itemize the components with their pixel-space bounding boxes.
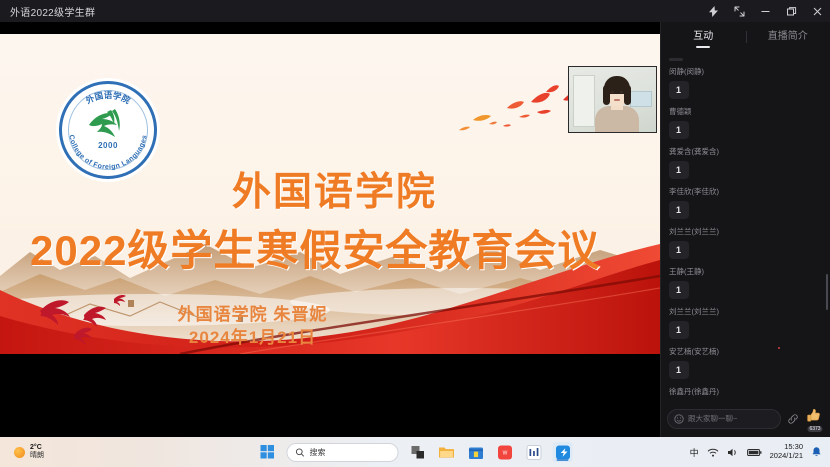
live-sidebar: 互动 直播简介 闵静(闵静) 1 曹德颖 1 龚爱含(龚爱含) 1 李佳欣(李佳… <box>660 22 830 437</box>
slide-title-line1: 外国语学院 <box>232 161 437 217</box>
message-text: 1 <box>669 321 689 339</box>
system-tray: 中 15:30 2024/1/21 <box>690 443 822 460</box>
message-sender: 李佳欣(李佳欣) <box>669 186 830 197</box>
bell-icon[interactable] <box>811 446 822 458</box>
list-item: 刘兰兰(刘兰兰) 1 <box>669 306 830 339</box>
logo-year-label: 2000 <box>56 141 160 150</box>
svg-text:W: W <box>502 450 507 456</box>
thumbs-up-icon[interactable] <box>805 407 823 425</box>
message-sender: 安艺楠(安艺楠) <box>669 346 830 357</box>
search-icon <box>296 448 305 457</box>
weather-widget[interactable]: 2°C 晴朗 <box>0 444 160 460</box>
presentation-slide: 外国语学院 College of Foreign Languages 2000 … <box>0 34 660 354</box>
battery-icon[interactable] <box>747 447 762 458</box>
window-titlebar: 外语2022级学生群 <box>0 0 830 22</box>
message-text: 1 <box>669 281 689 299</box>
chat-composer: 跟大家聊一聊~ 6373 <box>661 400 830 437</box>
message-sender: 闵静(闵静) <box>669 66 830 77</box>
smiley-icon[interactable] <box>674 414 684 424</box>
message-text: 1 <box>669 121 689 139</box>
chat-scrollbar[interactable] <box>826 274 828 310</box>
dingtalk-icon[interactable] <box>553 442 573 462</box>
list-item: 闵静(闵静) 1 <box>669 66 830 99</box>
wifi-icon[interactable] <box>707 447 719 458</box>
chat-input-placeholder: 跟大家聊一聊~ <box>688 413 737 424</box>
message-sender: 刘兰兰(刘兰兰) <box>669 306 830 317</box>
window-controls <box>700 0 830 22</box>
slide-date: 2024年1月21日 <box>0 323 660 348</box>
wps-office-icon[interactable]: W <box>495 442 515 462</box>
search-input[interactable]: 搜索 <box>287 443 399 462</box>
message-sender: 龚爱含(龚爱含) <box>669 146 830 157</box>
list-item: 曹德颖 1 <box>669 106 830 139</box>
microsoft-store-icon[interactable] <box>466 442 486 462</box>
like-count-badge: 6373 <box>807 426 822 432</box>
weather-temperature: 2°C <box>30 444 44 452</box>
list-item: 安艺楠(安艺楠) 1 <box>669 346 830 379</box>
presenter-webcam-video[interactable] <box>568 66 657 133</box>
college-logo: 外国语学院 College of Foreign Languages 2000 <box>56 78 160 182</box>
shrink-window-icon[interactable] <box>726 0 752 22</box>
message-text: 1 <box>669 241 689 259</box>
live-stage: 外国语学院 College of Foreign Languages 2000 … <box>0 22 660 437</box>
clock-date: 2024/1/21 <box>770 452 803 461</box>
chat-message-list[interactable]: 闵静(闵静) 1 曹德颖 1 龚爱含(龚爱含) 1 李佳欣(李佳欣) 1 刘兰兰… <box>661 52 830 400</box>
logo-bird-icon <box>85 107 131 145</box>
taskview-icon[interactable] <box>408 442 428 462</box>
search-placeholder: 搜索 <box>310 447 326 458</box>
restore-icon[interactable] <box>778 0 804 22</box>
list-item: 龚爱含(龚爱含) 1 <box>669 146 830 179</box>
chat-input[interactable]: 跟大家聊一聊~ <box>667 409 781 429</box>
slide-presenter: 外国语学院 朱晋妮 <box>0 300 660 325</box>
link-icon[interactable] <box>787 413 799 425</box>
message-sender: 曹德颖 <box>669 106 830 117</box>
slide-title-line2: 2022级学生寒假安全教育会议 <box>30 217 600 278</box>
list-item: 李佳欣(李佳欣) 1 <box>669 186 830 219</box>
windows-taskbar: 2°C 晴朗 搜索 <box>0 437 830 467</box>
list-item: 徐鑫丹(徐鑫丹) 1 <box>669 386 830 400</box>
taskbar-clock[interactable]: 15:30 2024/1/21 <box>770 443 803 460</box>
message-sender: 刘兰兰(刘兰兰) <box>669 226 830 237</box>
reaction-dot-icon <box>778 347 780 349</box>
minimize-icon[interactable] <box>752 0 778 22</box>
boost-icon[interactable] <box>700 0 726 22</box>
chat-load-more-stub <box>669 58 683 61</box>
window-title: 外语2022级学生群 <box>0 4 95 19</box>
tab-live-intro[interactable]: 直播简介 <box>746 22 830 52</box>
volume-icon[interactable] <box>727 447 739 458</box>
ime-indicator[interactable]: 中 <box>690 446 699 459</box>
list-item: 王静(王静) 1 <box>669 266 830 299</box>
tab-interaction[interactable]: 互动 <box>661 22 746 52</box>
like-button[interactable]: 6373 <box>805 407 825 431</box>
message-text: 1 <box>669 361 689 379</box>
message-sender: 王静(王静) <box>669 266 830 277</box>
close-icon[interactable] <box>804 0 830 22</box>
message-sender: 徐鑫丹(徐鑫丹) <box>669 386 830 397</box>
message-text: 1 <box>669 81 689 99</box>
message-text: 1 <box>669 161 689 179</box>
sun-icon <box>14 447 25 458</box>
taskbar-apps: 搜索 <box>258 442 573 462</box>
start-button[interactable] <box>258 442 278 462</box>
dingtalk-live-window: 外语2022级学生群 <box>0 0 830 467</box>
weather-condition: 晴朗 <box>30 452 44 460</box>
chart-app-icon[interactable] <box>524 442 544 462</box>
file-explorer-icon[interactable] <box>437 442 457 462</box>
swallow-birds-icon <box>445 80 585 135</box>
sidebar-tabs: 互动 直播简介 <box>661 22 830 52</box>
list-item: 刘兰兰(刘兰兰) 1 <box>669 226 830 259</box>
message-text: 1 <box>669 201 689 219</box>
